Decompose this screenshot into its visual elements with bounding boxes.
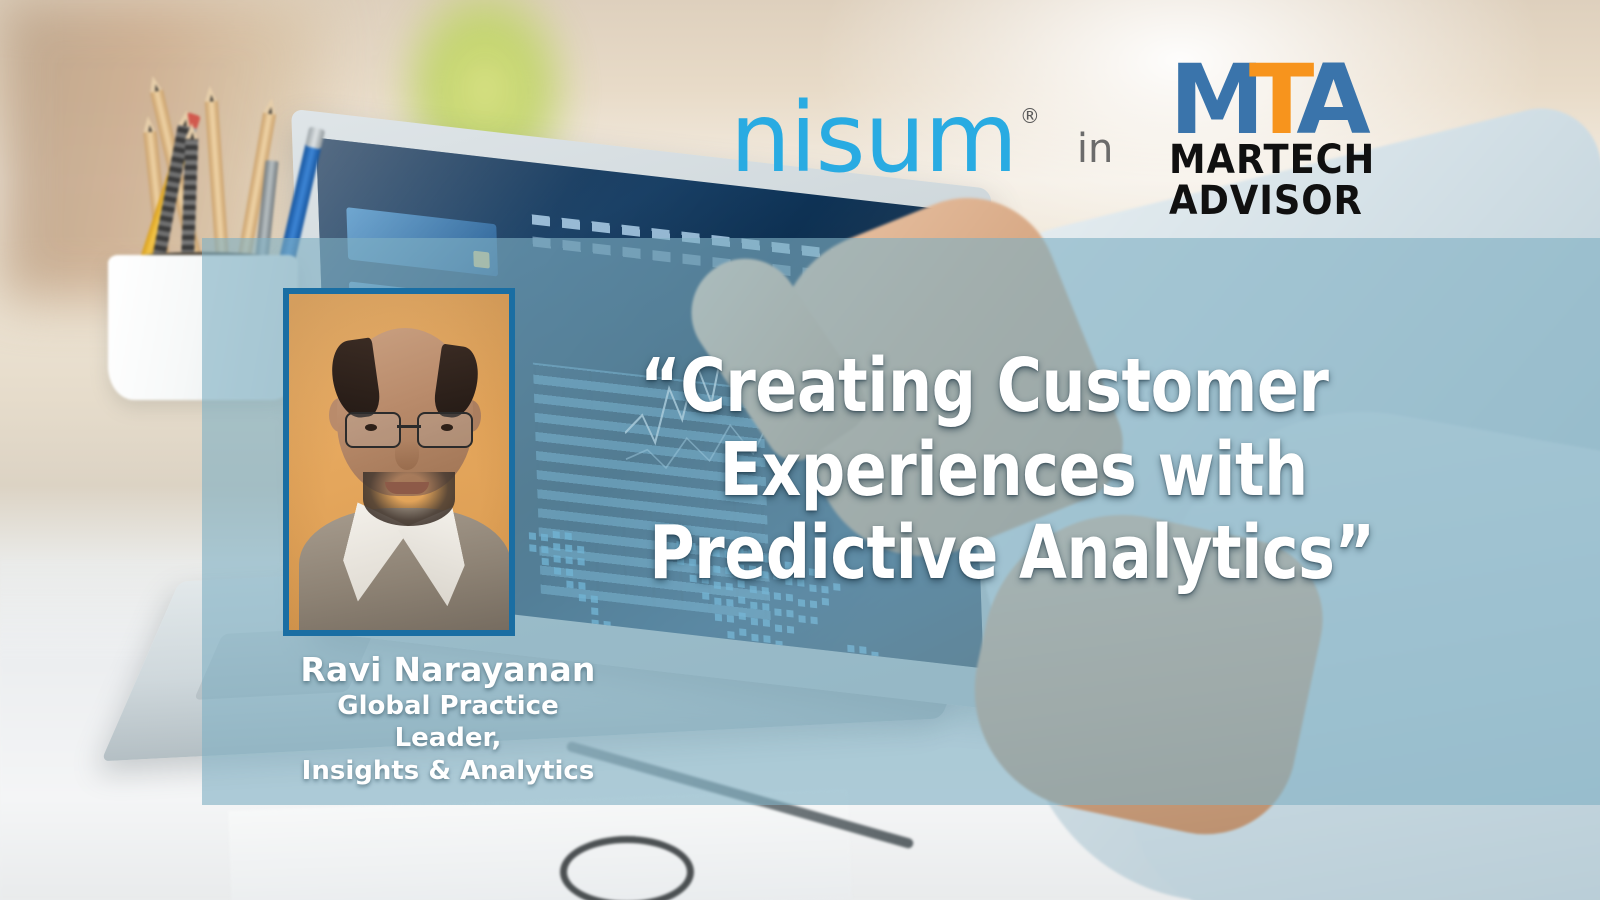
speaker-title-line2: Insights & Analytics [283, 756, 613, 788]
speaker-portrait-frame [283, 288, 515, 636]
speaker-title-line1: Global Practice Leader, [283, 691, 613, 754]
quote-line-2: Experiences with [640, 429, 1375, 513]
portrait-eyeglasses [345, 412, 473, 446]
portrait-beard [363, 472, 455, 526]
speaker-portrait-photo [289, 294, 509, 630]
portrait-mouth [385, 482, 429, 494]
speaker-name: Ravi Narayanan [283, 652, 613, 689]
quote-text: “Creating Customer Experiences with Pred… [640, 345, 1375, 596]
promo-banner: nisum® in M T A MARTECH ADVISOR [0, 0, 1600, 900]
portrait-eye-right [441, 424, 453, 431]
portrait-eye-left [365, 424, 377, 431]
desk-glasses [560, 836, 694, 900]
speaker-info: Ravi Narayanan Global Practice Leader, I… [283, 652, 613, 788]
quote-line-1: “Creating Customer [640, 345, 1375, 429]
quote-line-3: Predictive Analytics” [640, 512, 1375, 596]
eyeglass-bridge [397, 425, 421, 428]
